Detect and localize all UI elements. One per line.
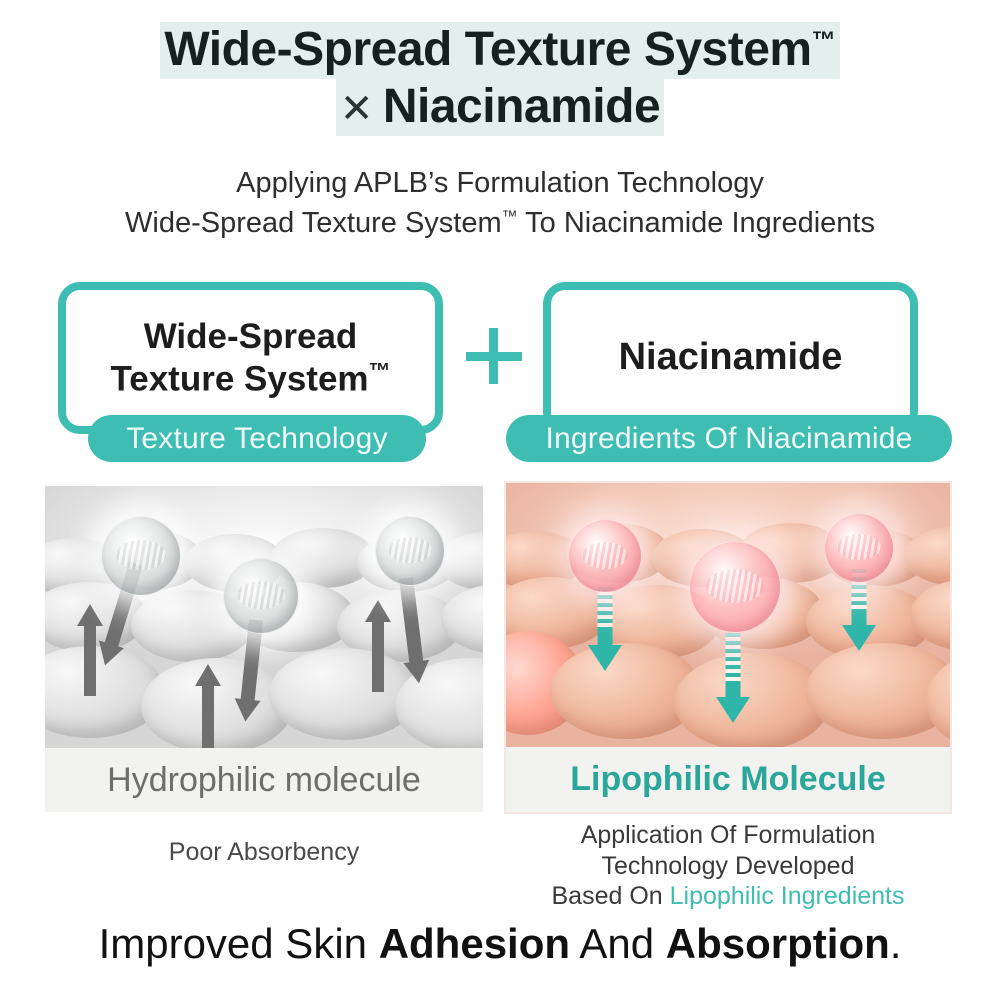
multiply-icon: ✕ [340, 87, 383, 131]
hydrophilic-illustration [45, 486, 483, 748]
lipophilic-note-line-3-a: Based On [551, 882, 669, 910]
lipophilic-droplet [824, 513, 894, 583]
absorption-arrow [586, 587, 624, 671]
lipophilic-droplet [568, 519, 642, 593]
bottom-prefix: Improved Skin [99, 920, 379, 967]
lipophilic-note-highlight: Lipophilic Ingredients [670, 882, 905, 910]
trademark-icon: ™ [369, 358, 391, 383]
hydrophilic-droplet [375, 516, 445, 586]
lipophilic-note: Application Of Formulation Technology De… [506, 820, 950, 912]
lipophilic-droplet [689, 541, 781, 633]
subtitle-line-1: Applying APLB’s Formulation Technology [0, 163, 1000, 203]
left-concept-pill-label: Texture Technology [126, 422, 388, 456]
lipophilic-panel: Lipophilic Molecule [506, 483, 950, 812]
title-line-2: ✕Niacinamide [0, 79, 1000, 136]
left-concept-title-line-2: Texture System™ [110, 358, 390, 401]
rejection-arrow [363, 600, 393, 692]
lipophilic-caption-text: Lipophilic Molecule [570, 760, 885, 799]
rejection-arrow [193, 664, 223, 748]
title-line-1: Wide-Spread Texture System™ [0, 22, 1000, 79]
hydrophilic-panel: Hydrophilic molecule [45, 486, 483, 812]
title-line-1-text: Wide-Spread Texture System [164, 23, 811, 76]
left-concept-title: Wide-Spread Texture System™ [110, 316, 390, 401]
lipophilic-note-line-1: Application Of Formulation [506, 820, 950, 851]
subtitle: Applying APLB’s Formulation Technology W… [0, 163, 1000, 243]
infographic-root: Wide-Spread Texture System™ ✕Niacinamide… [0, 0, 1000, 1000]
absorption-arrow [714, 633, 752, 725]
lipophilic-note-line-3: Based On Lipophilic Ingredients [506, 881, 950, 912]
lipophilic-caption: Lipophilic Molecule [506, 747, 950, 812]
title-line-2-text: Niacinamide [383, 80, 660, 133]
right-concept-box: Niacinamide [543, 282, 918, 434]
lipophilic-note-line-2: Technology Developed [506, 851, 950, 882]
subtitle-line-2: Wide-Spread Texture System™ To Niacinami… [0, 203, 1000, 243]
bottom-statement: Improved Skin Adhesion And Absorption. [0, 920, 1000, 968]
page-title: Wide-Spread Texture System™ ✕Niacinamide [0, 22, 1000, 135]
bottom-bold-absorption: Absorption [666, 920, 890, 967]
left-concept-pill: Texture Technology [88, 415, 426, 462]
plus-icon [466, 328, 522, 384]
hydrophilic-caption: Hydrophilic molecule [45, 748, 483, 812]
right-concept-title: Niacinamide [619, 335, 843, 381]
hydrophilic-droplet [223, 558, 299, 634]
trademark-icon: ™ [502, 208, 518, 225]
bottom-bold-adhesion: Adhesion [379, 920, 570, 967]
left-concept-box: Wide-Spread Texture System™ [58, 282, 443, 434]
right-concept-pill-label: Ingredients Of Niacinamide [545, 422, 912, 456]
lipophilic-illustration [506, 483, 950, 747]
hydrophilic-note: Poor Absorbency [45, 838, 483, 867]
hydrophilic-caption-text: Hydrophilic molecule [107, 761, 421, 800]
hydrophilic-note-text: Poor Absorbency [169, 838, 359, 866]
subtitle-line-2-b: To Niacinamide Ingredients [518, 207, 875, 239]
left-concept-title-line-1: Wide-Spread [110, 316, 390, 358]
right-concept-pill: Ingredients Of Niacinamide [506, 415, 952, 462]
hydrophilic-droplet [101, 516, 181, 596]
bottom-middle: And [570, 920, 666, 967]
bottom-suffix: . [890, 920, 902, 967]
subtitle-line-2-a: Wide-Spread Texture System [125, 207, 502, 239]
left-concept-title-line-2-text: Texture System [110, 359, 368, 398]
trademark-icon: ™ [812, 27, 836, 54]
